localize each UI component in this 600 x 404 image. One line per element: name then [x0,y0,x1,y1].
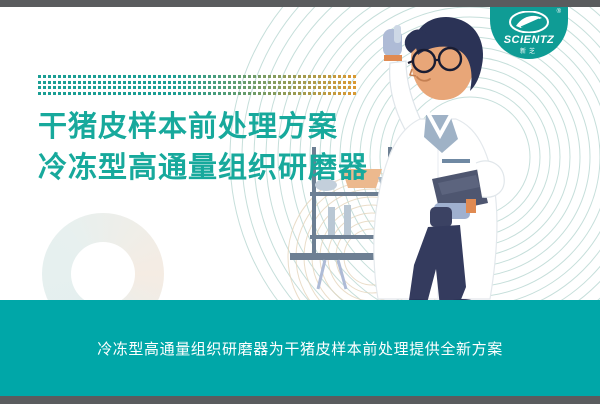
logo-brand-text: SCIENTZ [490,34,568,46]
viewer-top-bar [0,0,600,7]
poster-canvas: 干猪皮样本前处理方案 冷冻型高通量组织研磨器 [0,7,600,396]
logo-brand-text-cn: 新芝 [490,46,568,55]
bottom-banner: 冷冻型高通量组织研磨器为干猪皮样本前处理提供全新方案 [0,300,600,396]
scientist-head [405,17,483,100]
registered-mark: ® [557,9,561,15]
headline-line-1: 干猪皮样本前处理方案 [38,107,368,148]
viewer-bottom-bar [0,396,600,404]
banner-text: 冷冻型高通量组织研磨器为干猪皮样本前处理提供全新方案 [97,338,503,359]
logo-emblem-icon [509,11,549,33]
scientz-logo[interactable]: ® SCIENTZ 新芝 [490,7,568,61]
page-title: 干猪皮样本前处理方案 冷冻型高通量组织研磨器 [38,107,368,189]
poster-root: 干猪皮样本前处理方案 冷冻型高通量组织研磨器 [0,0,600,404]
headline-line-2: 冷冻型高通量组织研磨器 [38,148,368,189]
